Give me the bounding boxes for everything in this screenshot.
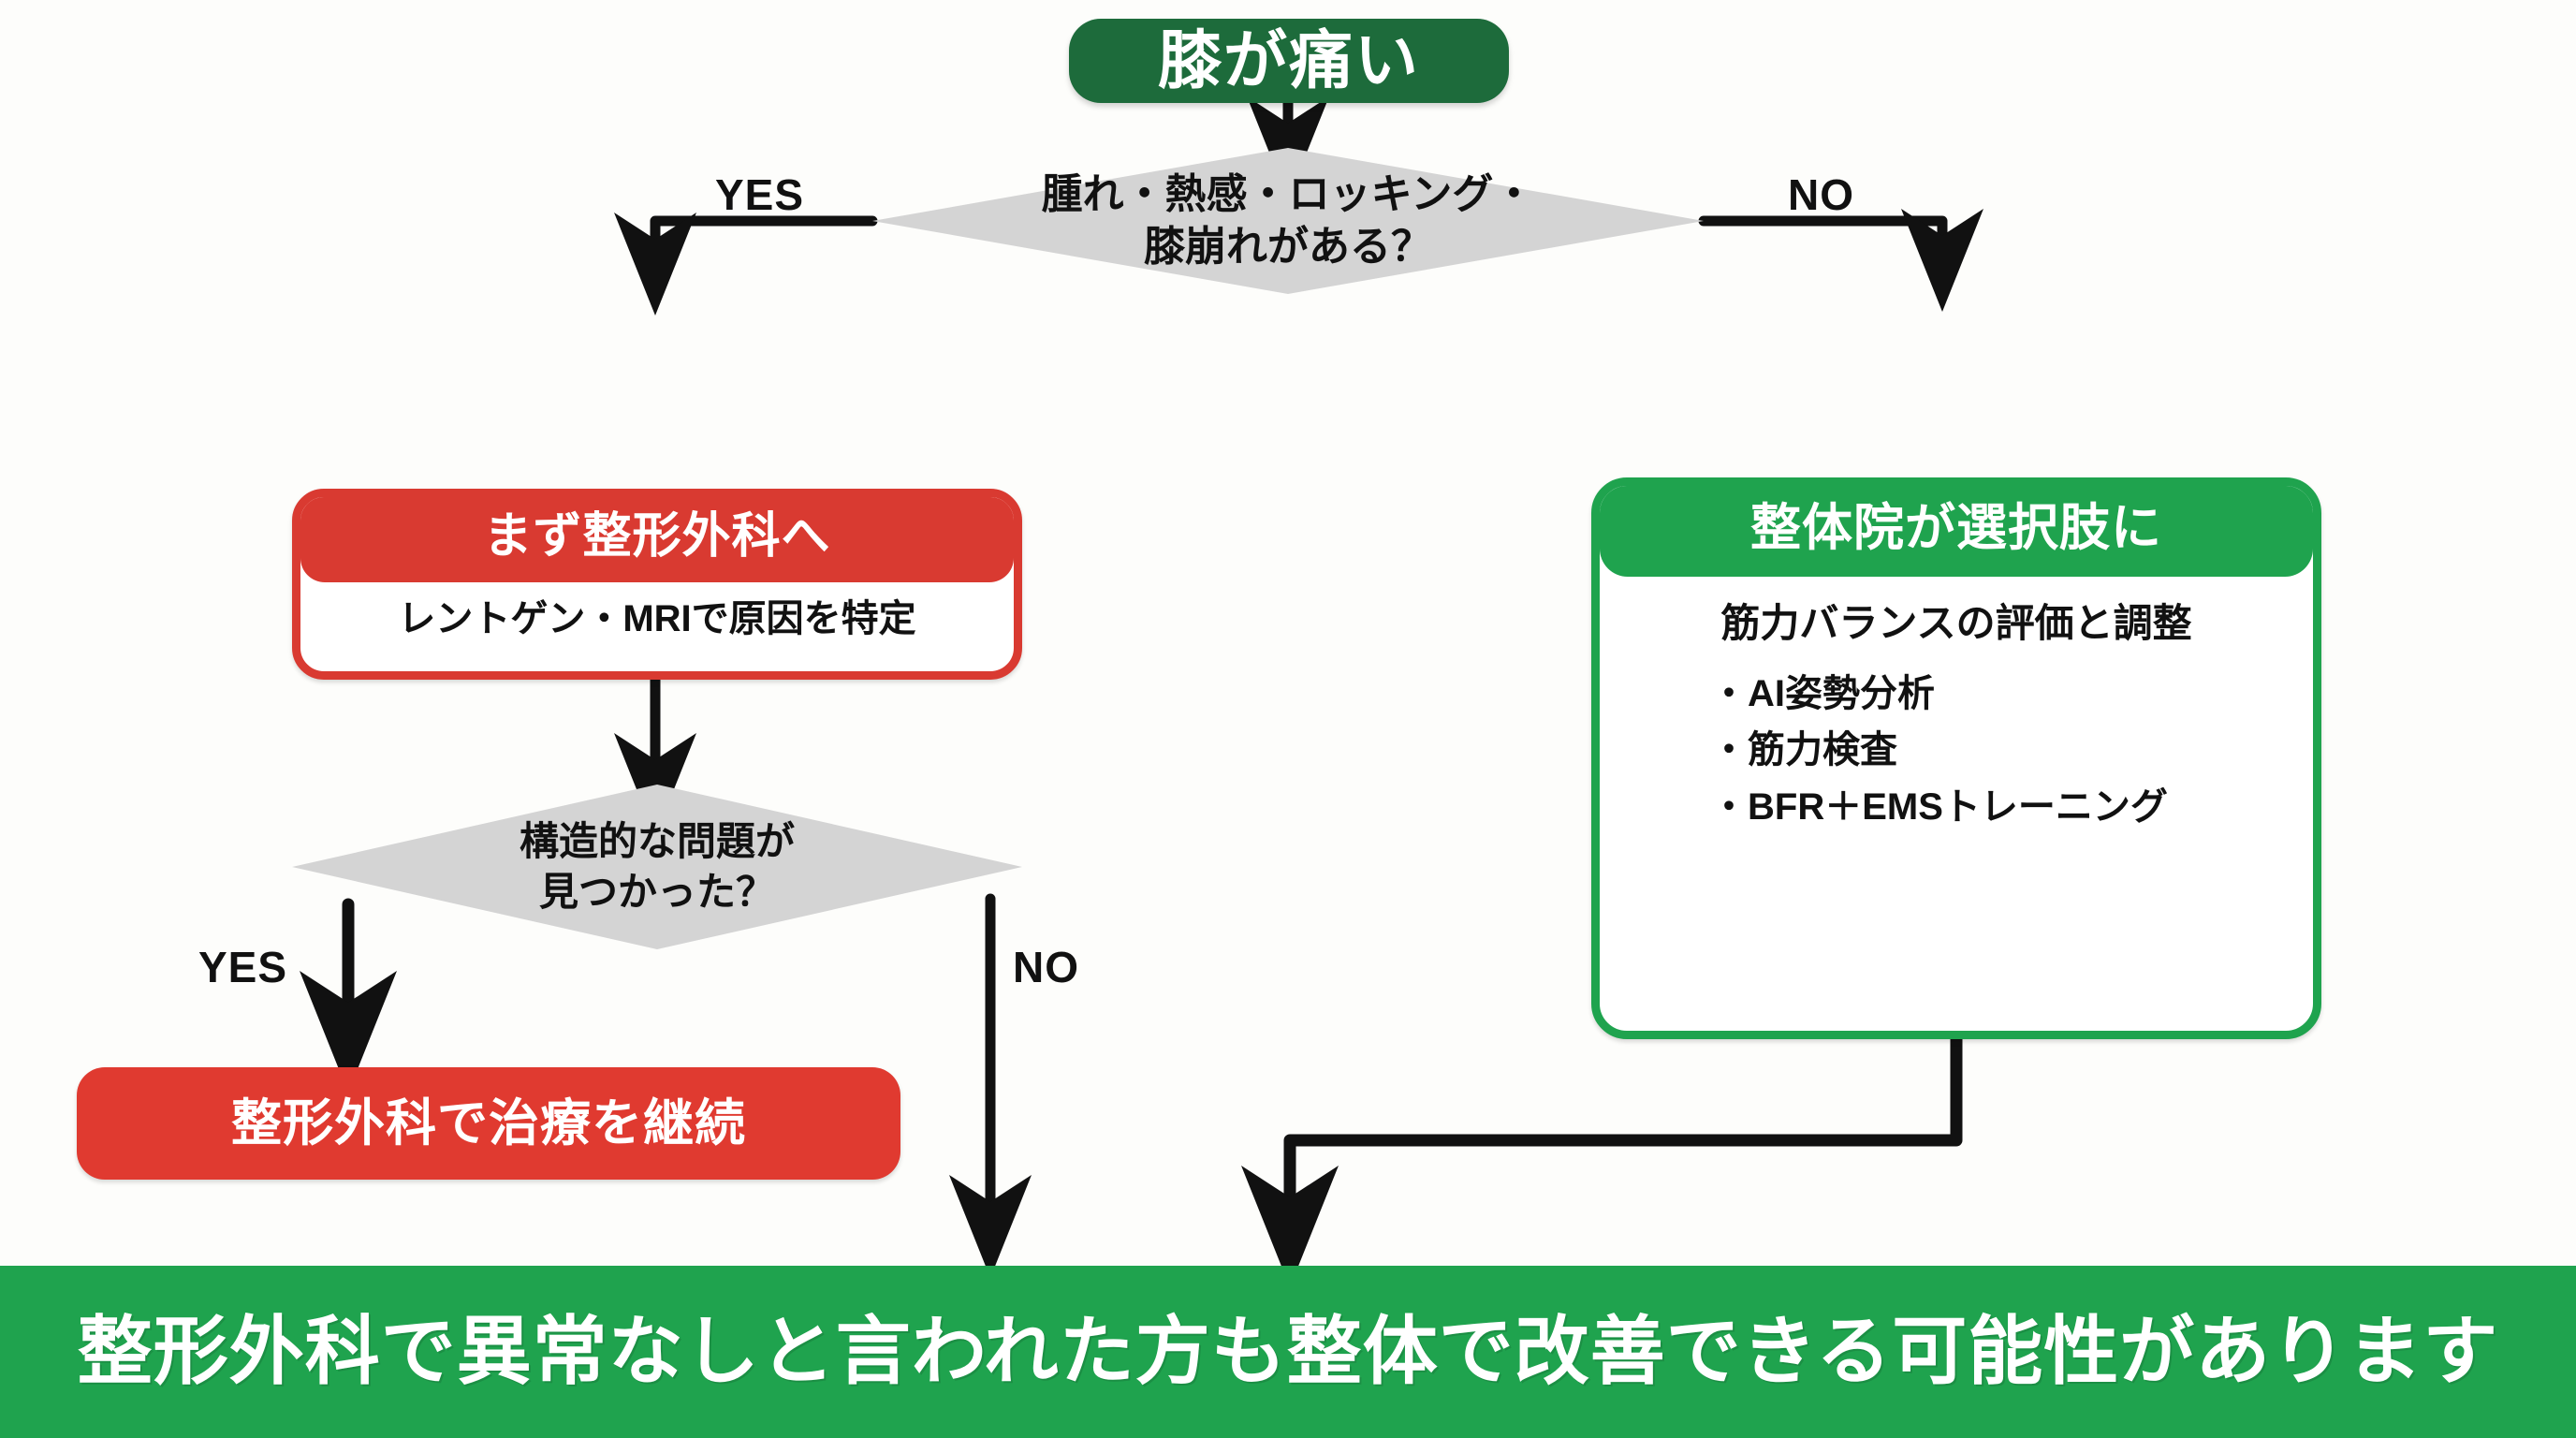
edge-label-decision2-no: NO	[1013, 946, 1079, 989]
node-seitai-subhead: 筋力バランスの評価と調整	[1600, 577, 2313, 659]
flowchart-canvas: 膝が痛い 腫れ・熱感・ロッキング・ 膝崩れがある？ YES NO まず整形外科へ…	[0, 0, 2576, 1438]
list-item: ・AI姿勢分析	[1710, 666, 2313, 723]
bottom-banner-text: 整形外科で異常なしと言われた方も整体で改善できる可能性があります	[78, 1314, 2498, 1389]
node-orthopedics-body: レントゲン・MRIで原因を特定	[300, 582, 1014, 657]
node-orthopedics-header: まず整形外科へ	[300, 497, 1014, 582]
node-seitai-card: 整体院が選択肢に 筋力バランスの評価と調整 ・AI姿勢分析 ・筋力検査 ・BFR…	[1591, 477, 2321, 1039]
node-orthopedics-card: まず整形外科へ レントゲン・MRIで原因を特定	[292, 489, 1022, 680]
edge-label-decision2-yes: YES	[198, 946, 287, 989]
node-seitai-bullet-list: ・AI姿勢分析 ・筋力検査 ・BFR＋EMSトレーニング	[1600, 660, 2313, 845]
list-item: ・BFR＋EMSトレーニング	[1710, 779, 2313, 836]
edge-label-decision1-yes: YES	[715, 173, 804, 216]
node-decision-symptoms-label: 腫れ・熱感・ロッキング・ 膝崩れがある？	[1042, 169, 1535, 274]
node-decision-structural-label: 構造的な問題が 見つかった？	[520, 816, 795, 917]
node-continue-orthopedic-treatment-label: 整形外科で治療を継続	[231, 1098, 746, 1149]
node-continue-orthopedic-treatment: 整形外科で治療を継続	[77, 1067, 900, 1180]
edge-decision1-yes	[655, 221, 872, 264]
edge-seitaicard-to-banner	[1290, 1039, 1956, 1226]
node-start-label: 膝が痛い	[1158, 29, 1420, 93]
list-item: ・筋力検査	[1710, 722, 2313, 779]
bottom-banner: 整形外科で異常なしと言われた方も整体で改善できる可能性があります	[0, 1266, 2576, 1438]
node-decision-symptoms: 腫れ・熱感・ロッキング・ 膝崩れがある？	[872, 148, 1704, 294]
node-seitai-header: 整体院が選択肢に	[1600, 486, 2313, 577]
edge-label-decision1-no: NO	[1788, 173, 1854, 216]
node-decision-structural: 構造的な問題が 見つかった？	[292, 785, 1022, 949]
edge-decision1-no	[1704, 221, 1942, 260]
node-start: 膝が痛い	[1069, 19, 1509, 103]
